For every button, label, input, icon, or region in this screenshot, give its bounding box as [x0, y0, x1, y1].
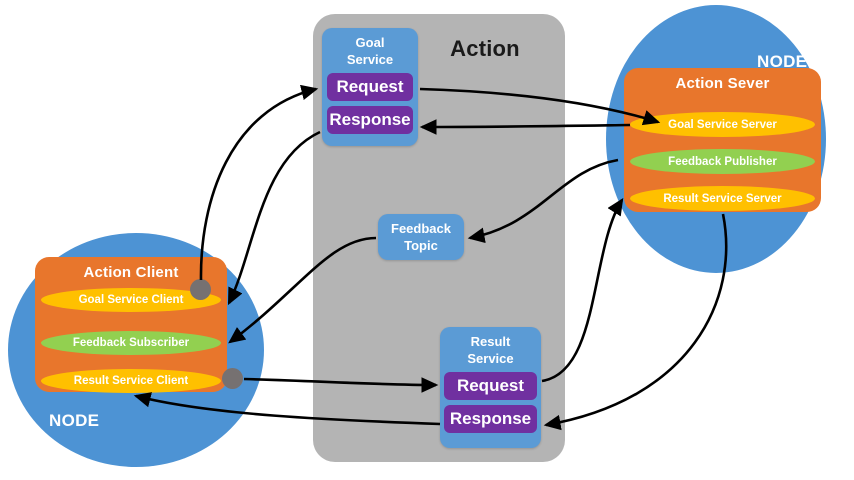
goal-service-request-pill[interactable]: Request [327, 73, 413, 101]
feedback-topic-title-line2: Topic [404, 238, 438, 253]
goal-service-title: Goal Service [322, 28, 418, 68]
result-service-client-ellipse[interactable]: Result Service Client [41, 369, 221, 393]
result-service-response-pill[interactable]: Response [444, 405, 537, 433]
result-service-title-line2: Service [467, 351, 513, 366]
arrow-goal-request-out [201, 89, 316, 280]
result-service-server-ellipse[interactable]: Result Service Server [630, 186, 815, 211]
goal-service-server-ellipse[interactable]: Goal Service Server [630, 112, 815, 137]
feedback-publisher-ellipse[interactable]: Feedback Publisher [630, 149, 815, 174]
action-diagram: Action Goal Service Request Response Fee… [0, 0, 854, 480]
feedback-subscriber-ellipse[interactable]: Feedback Subscriber [41, 331, 221, 355]
arrow-goal-response-out [229, 132, 320, 303]
goal-client-connector-dot [190, 279, 211, 300]
result-service-request-pill[interactable]: Request [444, 372, 537, 400]
goal-service-box[interactable]: Goal Service Request Response [322, 28, 418, 146]
goal-service-response-pill[interactable]: Response [327, 106, 413, 134]
client-node-label: NODE [49, 411, 99, 431]
action-client-title: Action Client [35, 257, 227, 281]
goal-service-title-line2: Service [347, 52, 393, 67]
result-service-title-line1: Result [471, 334, 511, 349]
feedback-topic-title-line1: Feedback [391, 221, 451, 236]
server-node-label: NODE [757, 52, 807, 72]
goal-service-title-line1: Goal [356, 35, 385, 50]
feedback-topic-title: Feedback Topic [378, 214, 464, 254]
result-service-box[interactable]: Result Service Request Response [440, 327, 541, 448]
result-service-title: Result Service [440, 327, 541, 367]
result-client-connector-dot [222, 368, 243, 389]
feedback-topic-box[interactable]: Feedback Topic [378, 214, 464, 260]
action-title: Action [425, 36, 545, 62]
